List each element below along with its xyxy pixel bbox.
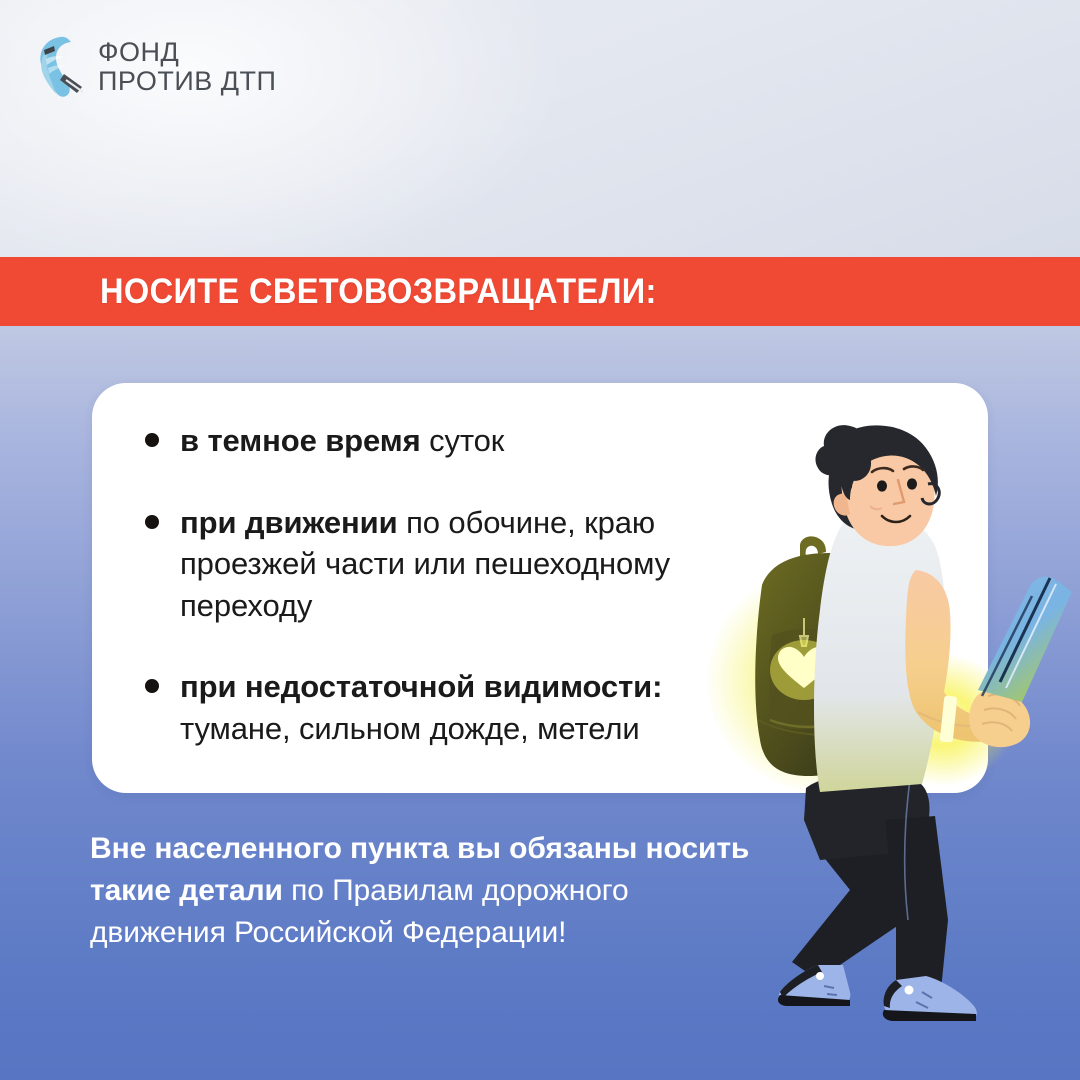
footnote-text: Вне населенного пункта вы обязаны носить…: [90, 828, 760, 954]
bullet-bold-3: при недостаточной видимости:: [180, 669, 662, 704]
list-item: при движении по обочине, краю проезжей ч…: [145, 502, 765, 627]
bullet-text-1: в темное время суток: [180, 420, 504, 462]
bullet-text-2: при движении по обочине, краю проезжей ч…: [180, 502, 765, 627]
rear-leg: [792, 838, 906, 980]
bullet-dot-icon: [145, 666, 180, 693]
bullet-rest-3: тумане, сильном дожде, метели: [180, 711, 640, 746]
list-item: при недостаточной видимости: тумане, сил…: [145, 666, 765, 749]
header-band: ФОНД ПРОТИВ ДТП: [0, 0, 1080, 257]
brand-logo-line-2: ПРОТИВ ДТП: [98, 67, 276, 96]
front-leg: [885, 816, 948, 1002]
brand-logo[interactable]: ФОНД ПРОТИВ ДТП: [30, 28, 270, 106]
bullet-list: в темное время суток при движении по обо…: [145, 420, 765, 749]
headline-text: НОСИТЕ СВЕТОВОЗВРАЩАТЕЛИ:: [100, 272, 657, 312]
front-shoe: [883, 976, 977, 1021]
bullet-rest-1: суток: [421, 423, 505, 458]
headline-banner: НОСИТЕ СВЕТОВОЗВРАЩАТЕЛИ:: [0, 257, 1080, 326]
books: [978, 577, 1072, 702]
bullet-dot-icon: [145, 420, 180, 447]
rear-shoe: [778, 965, 850, 1006]
bullet-dot-icon: [145, 502, 180, 529]
bullet-bold-2: при движении: [180, 505, 398, 540]
list-item: в темное время суток: [145, 420, 765, 462]
bullet-bold-1: в темное время: [180, 423, 421, 458]
brand-logo-line-1: ФОНД: [98, 38, 276, 67]
bullet-text-3: при недостаточной видимости: тумане, сил…: [180, 666, 765, 749]
poster-root: ФОНД ПРОТИВ ДТП НОСИТЕ СВЕТОВОЗВРАЩАТЕЛИ…: [0, 0, 1080, 1080]
brand-logo-text: ФОНД ПРОТИВ ДТП: [98, 38, 276, 96]
ribbon-logo-icon: [30, 34, 86, 100]
